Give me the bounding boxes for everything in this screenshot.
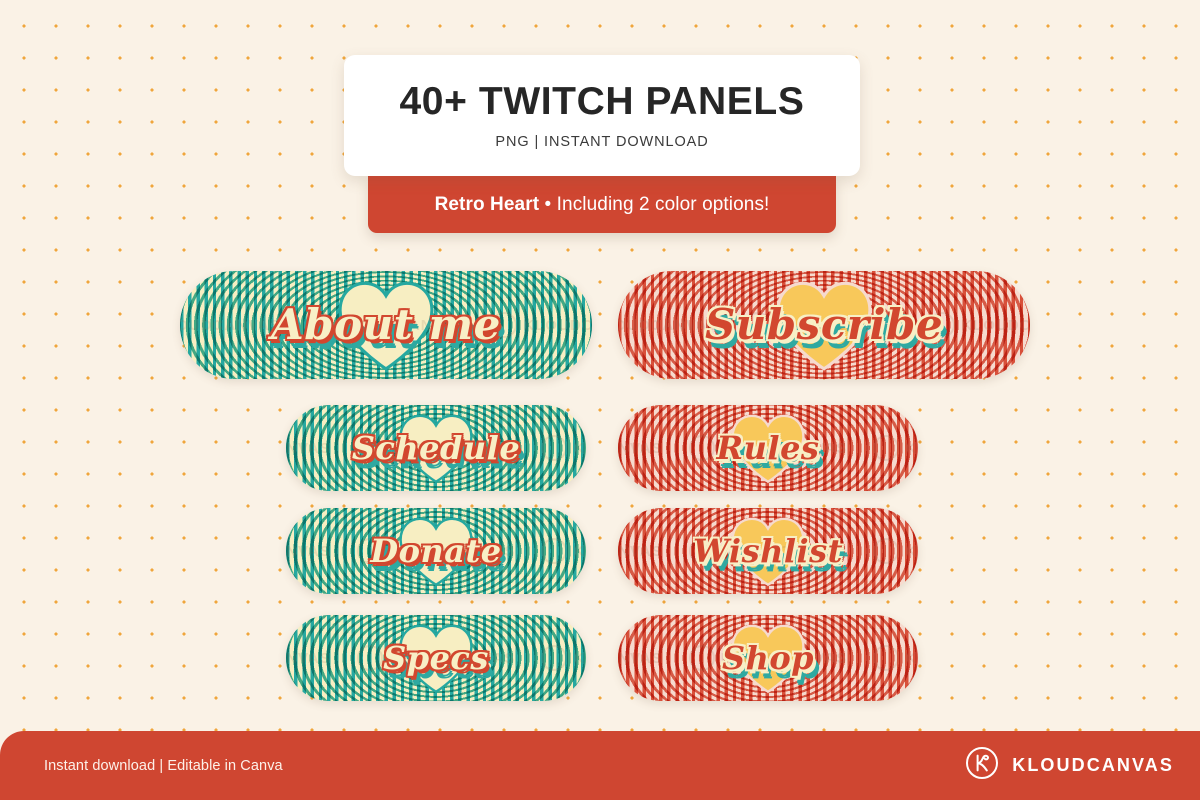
twitch-panel-shop[interactable]: KLOUDCANVASKLOUDCANVASKLOUDCANVASShop [618,615,918,701]
twitch-panel-rules[interactable]: KLOUDCANVASKLOUDCANVASKLOUDCANVASRules [618,405,918,491]
twitch-panel-donate[interactable]: KLOUDCANVASKLOUDCANVASKLOUDCANVASDonate [286,508,586,594]
panel-label: Rules [717,432,820,464]
panel-label: About me [271,304,501,346]
promo-banner-label: Retro Heart • Including 2 color options! [435,194,770,216]
kloudcanvas-k-logo-icon [965,746,999,785]
footer-note: Instant download | Editable in Canva [44,758,283,774]
promo-banner: Retro Heart • Including 2 color options! [368,176,836,233]
page-title: 40+ TWITCH PANELS [400,82,805,121]
page-subtitle: PNG | INSTANT DOWNLOAD [495,134,708,150]
panel-label: Specs [383,642,489,674]
poster-canvas: 40+ TWITCH PANELS PNG | INSTANT DOWNLOAD… [0,0,1200,800]
twitch-panel-specs[interactable]: KLOUDCANVASKLOUDCANVASKLOUDCANVASSpecs [286,615,586,701]
twitch-panel-about-me[interactable]: KLOUDCANVASKLOUDCANVASKLOUDCANVASAbout m… [180,271,592,379]
panel-label: Donate [370,535,501,567]
title-card: 40+ TWITCH PANELS PNG | INSTANT DOWNLOAD [344,55,860,176]
twitch-panel-wishlist[interactable]: KLOUDCANVASKLOUDCANVASKLOUDCANVASWishlis… [618,508,918,594]
panel-label: Shop [722,642,814,674]
panel-label: Schedule [352,432,520,464]
panel-label: Subscribe [705,304,943,346]
brand-lockup: KLOUDCANVAS [965,746,1174,785]
footer-bar: Instant download | Editable in Canva KLO… [0,731,1200,800]
twitch-panel-subscribe[interactable]: KLOUDCANVASKLOUDCANVASKLOUDCANVASSubscri… [618,271,1030,379]
brand-name: KLOUDCANVAS [1012,755,1174,776]
promo-banner-rest: • Including 2 color options! [539,194,769,215]
promo-banner-strong: Retro Heart [435,194,540,215]
panel-label: Wishlist [693,535,843,567]
twitch-panel-schedule[interactable]: KLOUDCANVASKLOUDCANVASKLOUDCANVASSchedul… [286,405,586,491]
